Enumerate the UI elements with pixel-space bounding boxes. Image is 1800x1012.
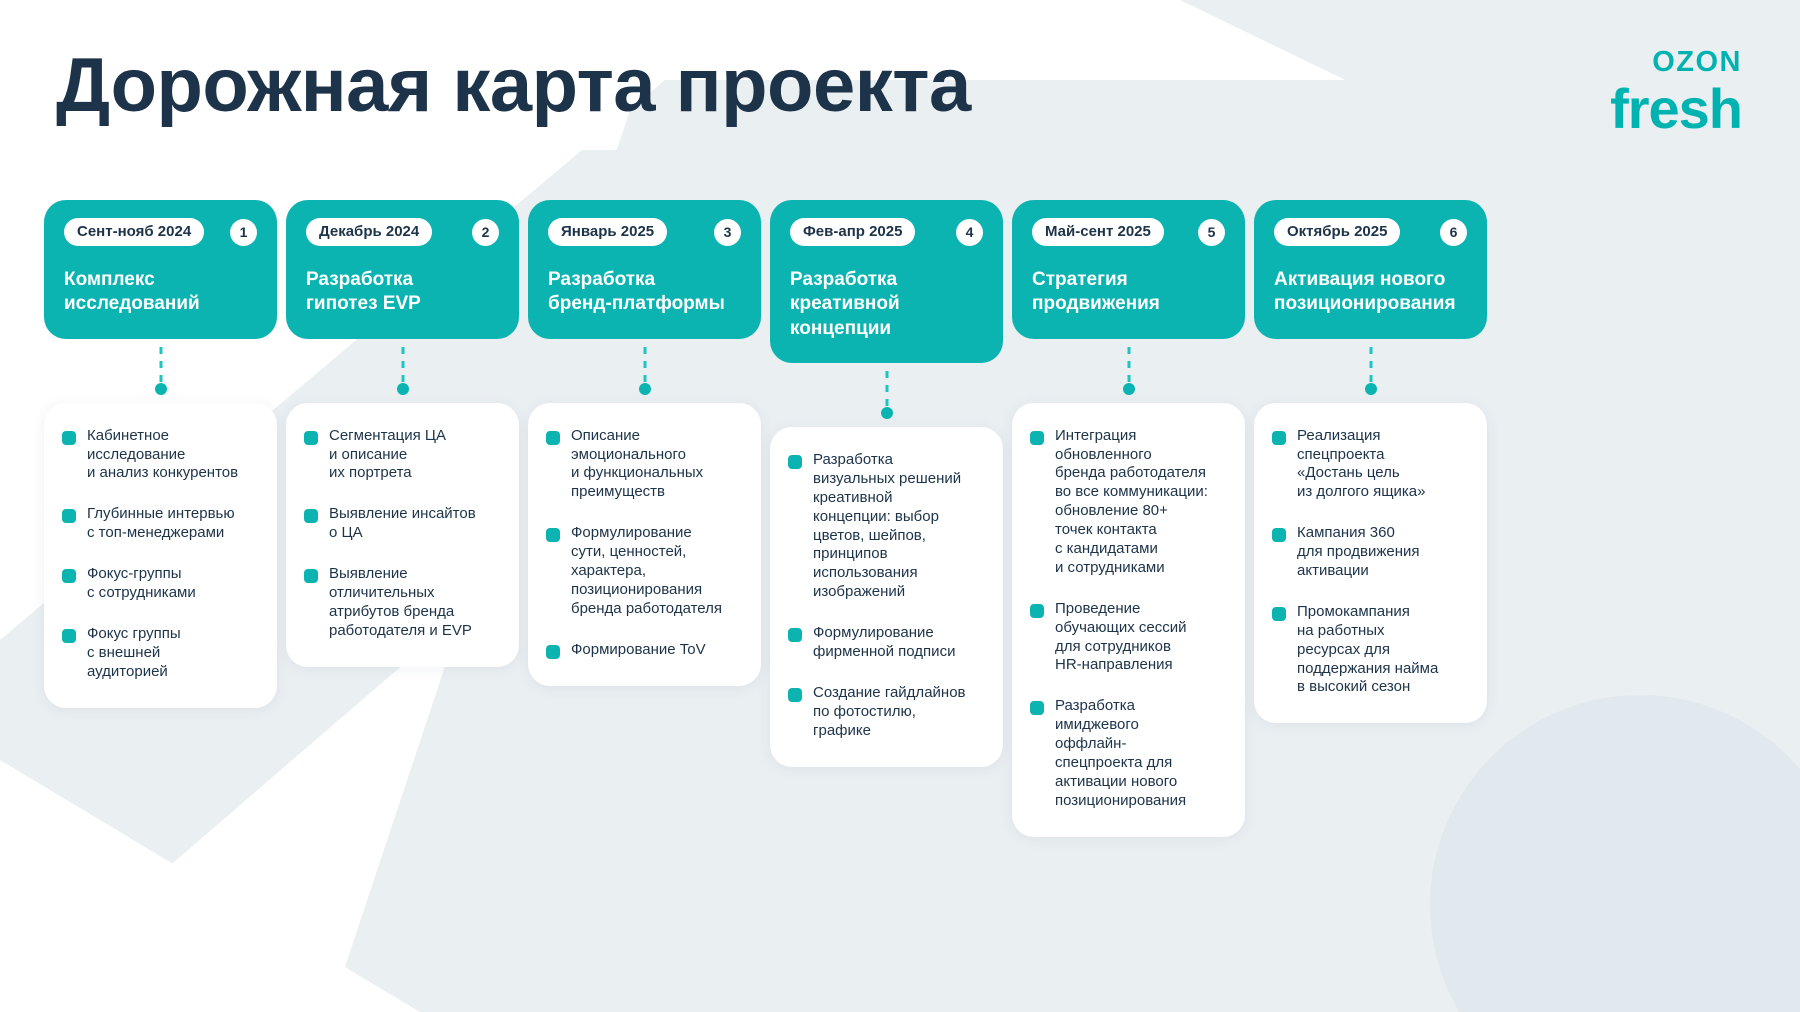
period-badge: Фев-апр 2025 bbox=[790, 218, 915, 246]
bullet-square-icon bbox=[1272, 431, 1286, 445]
step-number-badge: 1 bbox=[230, 219, 257, 246]
logo-ozon-text: OZON bbox=[1610, 48, 1742, 77]
phase-card-3[interactable]: Январь 2025 3 Разработка бренд-платформы bbox=[528, 200, 761, 339]
list-item: Разработка имиджевого оффлайн- спецпроек… bbox=[1030, 697, 1227, 810]
bullet-square-icon bbox=[304, 509, 318, 523]
bullet-text: Реализация спецпроекта «Достань цель из … bbox=[1297, 427, 1426, 503]
bullet-square-icon bbox=[62, 509, 76, 523]
roadmap-column: Декабрь 2024 2 Разработка гипотез EVP Се… bbox=[286, 200, 519, 837]
phase-card-header: Декабрь 2024 2 bbox=[306, 218, 499, 246]
phase-title: Активация нового позиционирования bbox=[1274, 268, 1467, 317]
bullet-text: Выявление инсайтов о ЦА bbox=[329, 505, 476, 543]
list-item: Формирование ToV bbox=[546, 641, 743, 660]
bullet-list: Описание эмоционального и функциональных… bbox=[546, 427, 743, 660]
page-title: Дорожная карта проекта bbox=[56, 48, 971, 124]
ozon-fresh-logo: OZON fresh bbox=[1610, 48, 1742, 137]
bullet-list: Интеграция обновленного бренда работодат… bbox=[1030, 427, 1227, 811]
roadmap-column: Сент-нояб 2024 1 Комплекс исследований К… bbox=[44, 200, 277, 837]
list-item: Формулирование фирменной подписи bbox=[788, 624, 985, 662]
step-number-badge: 4 bbox=[956, 219, 983, 246]
phase-card-1[interactable]: Сент-нояб 2024 1 Комплекс исследований bbox=[44, 200, 277, 339]
bullet-text: Создание гайдлайнов по фотостилю, график… bbox=[813, 684, 966, 741]
connector-dashes bbox=[1369, 347, 1372, 383]
phase-card-6[interactable]: Октябрь 2025 6 Активация нового позицион… bbox=[1254, 200, 1487, 339]
bullet-list: Кабинетное исследование и анализ конкуре… bbox=[62, 427, 259, 682]
period-badge: Сент-нояб 2024 bbox=[64, 218, 204, 246]
phase-title: Комплекс исследований bbox=[64, 268, 257, 317]
bullet-square-icon bbox=[788, 688, 802, 702]
bullet-text: Интеграция обновленного бренда работодат… bbox=[1055, 427, 1208, 578]
bullet-list: Сегментация ЦА и описание их портрета Вы… bbox=[304, 427, 501, 641]
phase-card-header: Май-сент 2025 5 bbox=[1032, 218, 1225, 246]
step-number-badge: 3 bbox=[714, 219, 741, 246]
roadmap-column: Фев-апр 2025 4 Разработка креативной кон… bbox=[770, 200, 1003, 837]
step-number-badge: 5 bbox=[1198, 219, 1225, 246]
detail-card-3[interactable]: Описание эмоционального и функциональных… bbox=[528, 403, 761, 686]
bullet-square-icon bbox=[1030, 604, 1044, 618]
list-item: Промокампания на работных ресурсах для п… bbox=[1272, 603, 1469, 697]
bullet-text: Фокус-группы с сотрудниками bbox=[87, 565, 196, 603]
list-item: Выявление инсайтов о ЦА bbox=[304, 505, 501, 543]
bullet-square-icon bbox=[546, 645, 560, 659]
bullet-square-icon bbox=[1030, 701, 1044, 715]
connector-line bbox=[770, 363, 1003, 427]
connector-dot-icon bbox=[639, 383, 651, 395]
bullet-square-icon bbox=[788, 628, 802, 642]
step-number-badge: 2 bbox=[472, 219, 499, 246]
connector-line bbox=[1254, 339, 1487, 403]
connector-dashes bbox=[885, 371, 888, 407]
connector-line bbox=[1012, 339, 1245, 403]
bullet-text: Кампания 360 для продвижения активации bbox=[1297, 524, 1420, 581]
bullet-square-icon bbox=[1272, 607, 1286, 621]
list-item: Реализация спецпроекта «Достань цель из … bbox=[1272, 427, 1469, 503]
bullet-text: Разработка визуальных решений креативной… bbox=[813, 451, 961, 602]
step-number-badge: 6 bbox=[1440, 219, 1467, 246]
bullet-square-icon bbox=[62, 629, 76, 643]
phase-card-header: Сент-нояб 2024 1 bbox=[64, 218, 257, 246]
list-item: Описание эмоционального и функциональных… bbox=[546, 427, 743, 503]
connector-dot-icon bbox=[155, 383, 167, 395]
list-item: Формулирование сути, ценностей, характер… bbox=[546, 524, 743, 618]
connector-dot-icon bbox=[1123, 383, 1135, 395]
list-item: Создание гайдлайнов по фотостилю, график… bbox=[788, 684, 985, 741]
connector-line bbox=[528, 339, 761, 403]
bullet-square-icon bbox=[304, 431, 318, 445]
connector-dashes bbox=[159, 347, 162, 383]
period-badge: Октябрь 2025 bbox=[1274, 218, 1400, 246]
bullet-text: Фокус группы с внешней аудиторией bbox=[87, 625, 181, 682]
detail-card-6[interactable]: Реализация спецпроекта «Достань цель из … bbox=[1254, 403, 1487, 724]
phase-title: Разработка бренд-платформы bbox=[548, 268, 741, 317]
roadmap-column: Октябрь 2025 6 Активация нового позицион… bbox=[1254, 200, 1487, 837]
phase-title: Разработка креативной концепции bbox=[790, 268, 983, 341]
connector-dot-icon bbox=[397, 383, 409, 395]
detail-card-5[interactable]: Интеграция обновленного бренда работодат… bbox=[1012, 403, 1245, 837]
connector-dashes bbox=[643, 347, 646, 383]
roadmap-column: Январь 2025 3 Разработка бренд-платформы… bbox=[528, 200, 761, 837]
bullet-text: Описание эмоционального и функциональных… bbox=[571, 427, 703, 503]
bullet-list: Реализация спецпроекта «Достань цель из … bbox=[1272, 427, 1469, 698]
logo-fresh-text: fresh bbox=[1610, 81, 1742, 137]
connector-line bbox=[44, 339, 277, 403]
detail-card-4[interactable]: Разработка визуальных решений креативной… bbox=[770, 427, 1003, 767]
period-badge: Январь 2025 bbox=[548, 218, 667, 246]
connector-dashes bbox=[1127, 347, 1130, 383]
phase-card-header: Октябрь 2025 6 bbox=[1274, 218, 1467, 246]
bullet-square-icon bbox=[1272, 528, 1286, 542]
phase-title: Стратегия продвижения bbox=[1032, 268, 1225, 317]
bullet-text: Формирование ToV bbox=[571, 641, 706, 660]
period-badge: Май-сент 2025 bbox=[1032, 218, 1164, 246]
bullet-text: Формулирование фирменной подписи bbox=[813, 624, 955, 662]
bullet-square-icon bbox=[1030, 431, 1044, 445]
bullet-text: Проведение обучающих сессий для сотрудни… bbox=[1055, 600, 1187, 676]
list-item: Сегментация ЦА и описание их портрета bbox=[304, 427, 501, 484]
list-item: Глубинные интервью с топ-менеджерами bbox=[62, 505, 259, 543]
bullet-list: Разработка визуальных решений креативной… bbox=[788, 451, 985, 741]
roadmap-column: Май-сент 2025 5 Стратегия продвижения Ин… bbox=[1012, 200, 1245, 837]
phase-card-header: Фев-апр 2025 4 bbox=[790, 218, 983, 246]
list-item: Выявление отличительных атрибутов бренда… bbox=[304, 565, 501, 641]
connector-dot-icon bbox=[1365, 383, 1377, 395]
list-item: Фокус группы с внешней аудиторией bbox=[62, 625, 259, 682]
phase-card-5[interactable]: Май-сент 2025 5 Стратегия продвижения bbox=[1012, 200, 1245, 339]
list-item: Интеграция обновленного бренда работодат… bbox=[1030, 427, 1227, 578]
phase-card-header: Январь 2025 3 bbox=[548, 218, 741, 246]
page-header: Дорожная карта проекта OZON fresh bbox=[0, 0, 1800, 200]
list-item: Фокус-группы с сотрудниками bbox=[62, 565, 259, 603]
bullet-text: Глубинные интервью с топ-менеджерами bbox=[87, 505, 235, 543]
bullet-text: Разработка имиджевого оффлайн- спецпроек… bbox=[1055, 697, 1186, 810]
detail-card-1[interactable]: Кабинетное исследование и анализ конкуре… bbox=[44, 403, 277, 708]
connector-dashes bbox=[401, 347, 404, 383]
list-item: Кампания 360 для продвижения активации bbox=[1272, 524, 1469, 581]
connector-line bbox=[286, 339, 519, 403]
phase-title: Разработка гипотез EVP bbox=[306, 268, 499, 317]
list-item: Кабинетное исследование и анализ конкуре… bbox=[62, 427, 259, 484]
bullet-square-icon bbox=[62, 431, 76, 445]
period-badge: Декабрь 2024 bbox=[306, 218, 432, 246]
connector-dot-icon bbox=[881, 407, 893, 419]
phase-card-2[interactable]: Декабрь 2024 2 Разработка гипотез EVP bbox=[286, 200, 519, 339]
list-item: Разработка визуальных решений креативной… bbox=[788, 451, 985, 602]
bullet-text: Сегментация ЦА и описание их портрета bbox=[329, 427, 446, 484]
phase-card-4[interactable]: Фев-апр 2025 4 Разработка креативной кон… bbox=[770, 200, 1003, 363]
bullet-text: Промокампания на работных ресурсах для п… bbox=[1297, 603, 1438, 697]
detail-card-2[interactable]: Сегментация ЦА и описание их портрета Вы… bbox=[286, 403, 519, 667]
roadmap-columns: Сент-нояб 2024 1 Комплекс исследований К… bbox=[44, 200, 1756, 837]
bullet-square-icon bbox=[304, 569, 318, 583]
bullet-text: Кабинетное исследование и анализ конкуре… bbox=[87, 427, 238, 484]
bullet-square-icon bbox=[788, 455, 802, 469]
bullet-text: Формулирование сути, ценностей, характер… bbox=[571, 524, 722, 618]
list-item: Проведение обучающих сессий для сотрудни… bbox=[1030, 600, 1227, 676]
bullet-text: Выявление отличительных атрибутов бренда… bbox=[329, 565, 472, 641]
bullet-square-icon bbox=[62, 569, 76, 583]
bullet-square-icon bbox=[546, 431, 560, 445]
bullet-square-icon bbox=[546, 528, 560, 542]
